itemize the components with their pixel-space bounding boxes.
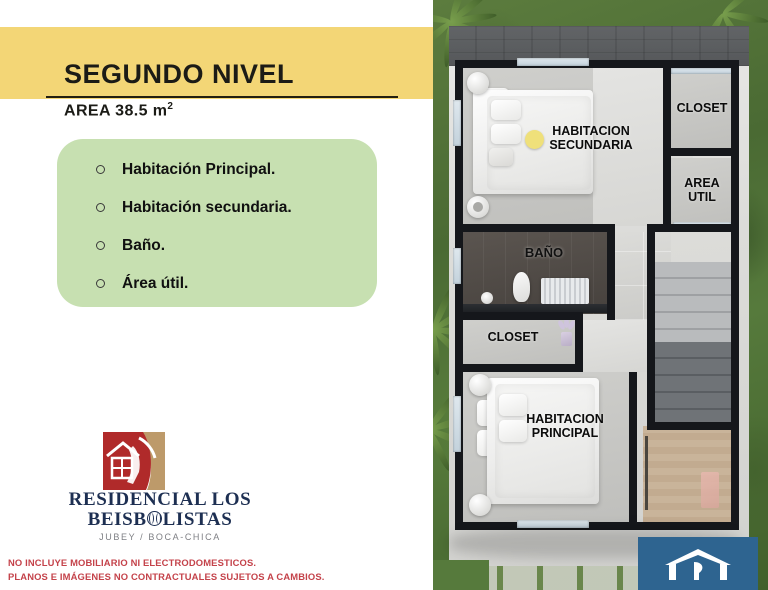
nightstand-principal-bottom <box>469 494 491 516</box>
room-label-line-1: AREA <box>684 176 719 190</box>
circle-bullet-icon <box>96 165 105 174</box>
logo-line-1: RESIDENCIAL LOS <box>69 489 252 510</box>
bed-principal <box>473 372 603 512</box>
window-secundaria-left <box>453 100 461 146</box>
wall-stair-bottom <box>647 422 739 430</box>
room-label-line-2: SECUNDARIA <box>549 138 632 152</box>
wall-stair-top <box>647 224 739 232</box>
window-secundaria-top <box>517 58 589 66</box>
circle-bullet-icon <box>96 203 105 212</box>
features-list: Habitación Principal. Habitación secunda… <box>94 161 367 313</box>
wall-closet-bottom <box>455 364 581 372</box>
logo-line-2-post: LISTAS <box>163 509 233 530</box>
window-principal-bottom <box>517 520 589 528</box>
feature-label: Habitación Principal. <box>122 161 275 178</box>
window-closet-superior <box>671 68 733 74</box>
level-banner: SEGUNDO NIVEL AREA 38.5 m2 <box>0 27 433 99</box>
info-panel: SEGUNDO NIVEL AREA 38.5 m2 Habitación Pr… <box>0 0 433 590</box>
feature-label: Baño. <box>122 237 165 254</box>
pillow <box>491 100 521 120</box>
pillow <box>491 124 521 144</box>
nightstand-top <box>467 72 489 94</box>
landing-floor <box>581 320 653 372</box>
lawn-patch <box>433 560 489 590</box>
room-label-bano: BAÑO <box>509 246 579 261</box>
feature-label: Habitación secundaria. <box>122 199 292 216</box>
wall-secundaria-bottom <box>455 224 615 232</box>
feature-label: Área útil. <box>122 275 188 292</box>
handrail <box>645 436 648 510</box>
list-item: Área útil. <box>94 275 367 292</box>
window-bano-left <box>453 248 461 284</box>
window-principal-left <box>453 396 461 452</box>
disclaimer-line-2: PLANOS E IMÁGENES NO CONTRACTUALES SUJET… <box>8 570 408 584</box>
room-label-line-2: PRINCIPAL <box>532 426 598 440</box>
area-label: AREA 38.5 m2 <box>64 101 173 120</box>
room-label-closet-inferior: CLOSET <box>473 330 553 344</box>
room-label-closet-superior: CLOSET <box>665 101 739 115</box>
accent-cushion <box>489 148 513 166</box>
baseball-icon <box>147 511 162 526</box>
toilet-icon <box>513 272 530 302</box>
wall-exterior-right <box>731 60 739 530</box>
features-card: Habitación Principal. Habitación secunda… <box>57 139 377 307</box>
shower-tray <box>541 278 589 304</box>
decor-plant <box>557 318 577 358</box>
staircase-upper <box>655 262 733 342</box>
wall-principal-right <box>629 372 637 530</box>
watermark-badge <box>638 537 758 590</box>
wall-closet-areautil-divider <box>663 148 739 156</box>
decor-lamp-dot <box>473 202 483 212</box>
logo-line-2-pre: BEISB <box>88 509 147 530</box>
wall-closet-right <box>575 312 583 372</box>
wall-roofband-left-stub <box>455 60 463 68</box>
sink-icon <box>481 292 493 304</box>
room-label-line-2: UTIL <box>688 190 716 204</box>
list-item: Habitación Principal. <box>94 161 367 178</box>
room-label-habitacion-secundaria: HABITACION SECUNDARIA <box>531 124 651 152</box>
wood-landing <box>643 426 733 524</box>
staircase-lower <box>655 342 733 426</box>
area-value: AREA 38.5 m <box>64 102 167 119</box>
wall-bano-bottom <box>455 312 583 320</box>
house-roof-icon <box>661 547 735 581</box>
logo-subtitle: JUBEY / BOCA-CHICA <box>55 532 265 542</box>
wall-exterior-top <box>455 60 739 68</box>
area-superscript: 2 <box>167 101 173 112</box>
legal-disclaimer: NO INCLUYE MOBILIARIO NI ELECTRODOMESTIC… <box>8 556 408 584</box>
nightstand-principal-top <box>469 374 491 396</box>
logo-mark-icon <box>103 432 165 490</box>
title-underline <box>46 96 398 98</box>
circle-bullet-icon <box>96 241 105 250</box>
room-label-area-util: AREA UTIL <box>667 176 737 204</box>
room-label-line-1: HABITACION <box>526 412 604 426</box>
floor-plan-brochure: SEGUNDO NIVEL AREA 38.5 m2 Habitación Pr… <box>0 0 768 590</box>
wall-stair-left <box>647 224 655 430</box>
room-label-line-1: HABITACION <box>552 124 630 138</box>
decor-rug <box>701 472 719 508</box>
page-title: SEGUNDO NIVEL <box>64 59 294 90</box>
room-label-habitacion-principal: HABITACION PRINCIPAL <box>505 412 625 440</box>
wall-secundaria-closet-divider <box>663 60 671 232</box>
floor-plan-render: HABITACION SECUNDARIA CLOSET AREA UTIL B… <box>433 0 768 590</box>
disclaimer-line-1: NO INCLUYE MOBILIARIO NI ELECTRODOMESTIC… <box>8 556 408 570</box>
list-item: Habitación secundaria. <box>94 199 367 216</box>
wall-bano-right <box>607 224 615 320</box>
logo-line-2: BEISBLISTAS <box>55 510 265 530</box>
circle-bullet-icon <box>96 279 105 288</box>
brand-logo: RESIDENCIAL LOS BEISBLISTAS JUBEY / BOCA… <box>55 432 265 542</box>
list-item: Baño. <box>94 237 367 254</box>
logo-wordmark: RESIDENCIAL LOS BEISBLISTAS <box>55 490 265 530</box>
